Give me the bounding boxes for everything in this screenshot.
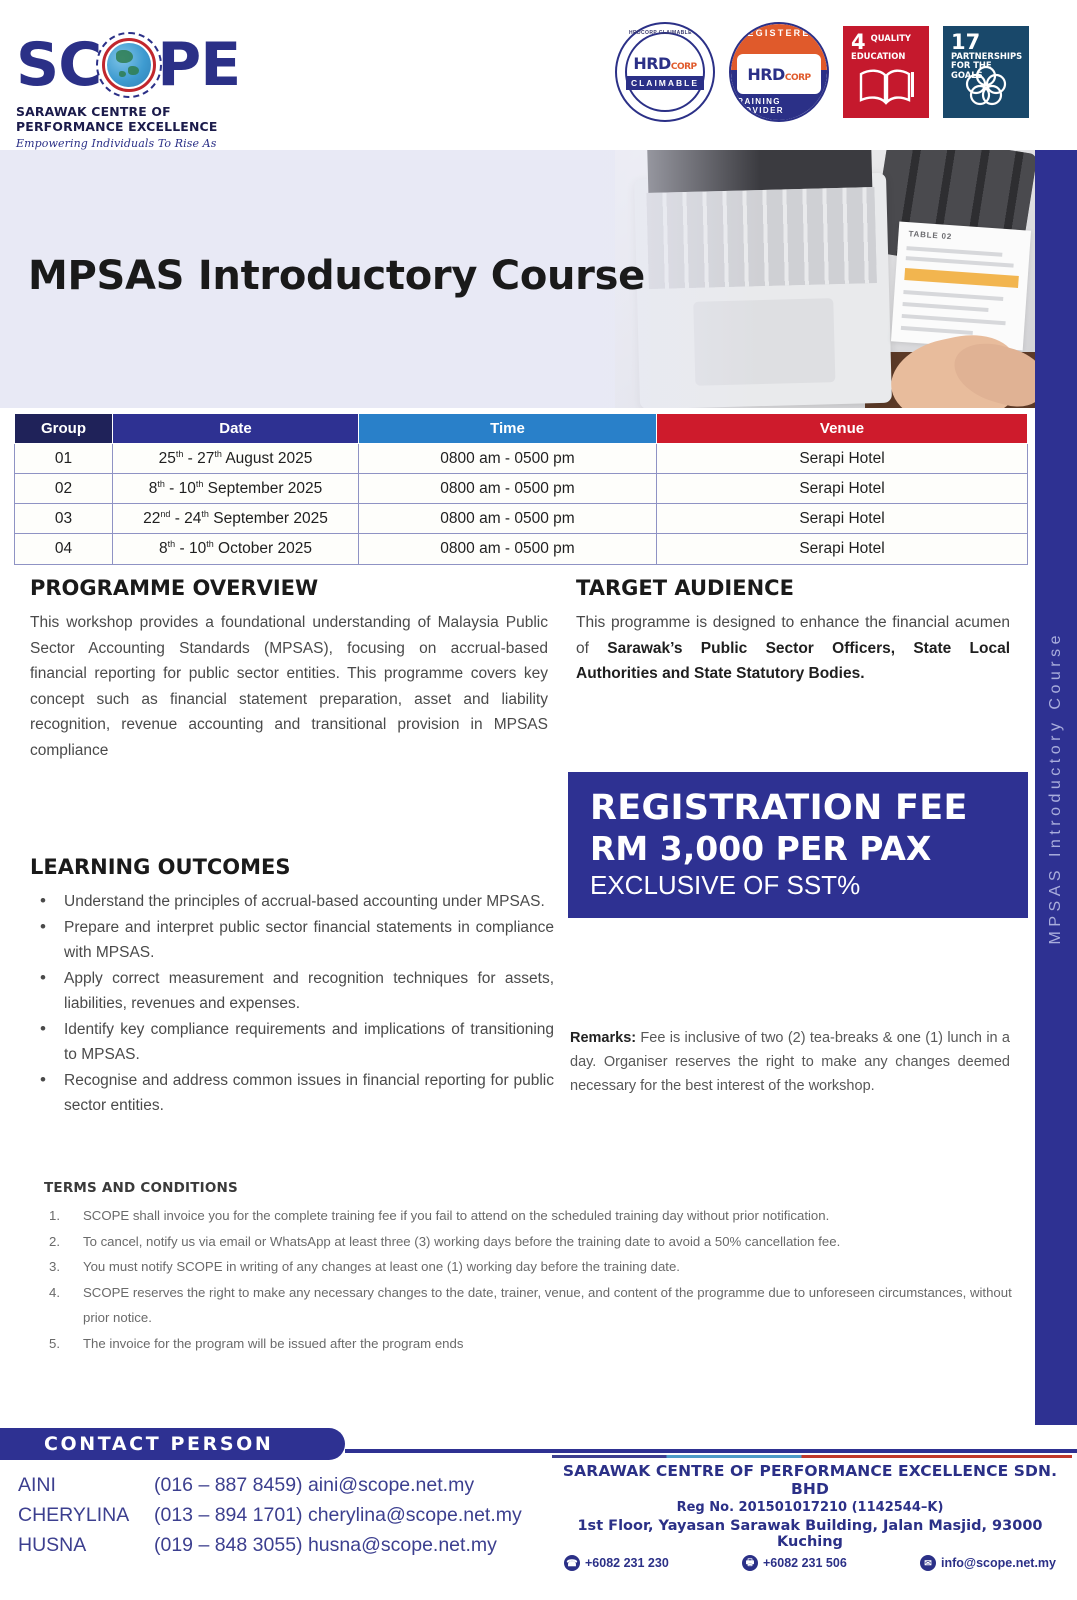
email-contact[interactable]: ✉ info@scope.net.my — [920, 1555, 1056, 1571]
registered-label: REGISTERED — [739, 28, 820, 38]
schedule-table: Group Date Time Venue 0125th - 27th Augu… — [14, 413, 1028, 565]
scope-logo: SC PE SARAWAK CENTRE OF PERFORMANCE EXCE… — [16, 30, 266, 163]
contact-name: AINI — [18, 1470, 154, 1500]
terms-and-conditions-section: TERMS AND CONDITIONS SCOPE shall invoice… — [44, 1180, 1012, 1356]
organisation-block: SARAWAK CENTRE OF PERFORMANCE EXCELLENCE… — [560, 1462, 1060, 1571]
contact-row[interactable]: CHERYLINA(013 – 894 1701) cherylina@scop… — [18, 1500, 522, 1530]
phone-icon: ☎ — [564, 1555, 580, 1571]
cell-group: 02 — [15, 474, 113, 504]
remarks-body: Fee is inclusive of two (2) tea-breaks &… — [570, 1030, 1010, 1094]
fax-number: +6082 231 506 — [763, 1556, 847, 1570]
fax-icon: 🖶 — [742, 1555, 758, 1571]
list-item: Apply correct measurement and recognitio… — [30, 966, 554, 1017]
remarks-label: Remarks: — [570, 1030, 636, 1046]
outcomes-list: Understand the principles of accrual-bas… — [30, 889, 554, 1119]
contact-detail: (013 – 894 1701) cherylina@scope.net.my — [154, 1500, 522, 1530]
audience-heading: TARGET AUDIENCE — [576, 576, 1010, 600]
remarks-block: Remarks: Fee is inclusive of two (2) tea… — [570, 1026, 1010, 1098]
contact-person-banner: CONTACT PERSON — [0, 1428, 345, 1460]
audience-body: This programme is designed to enhance th… — [576, 610, 1010, 687]
cell-group: 01 — [15, 444, 113, 474]
fax-contact[interactable]: 🖶 +6082 231 506 — [742, 1555, 847, 1571]
partnership-rings-icon — [943, 64, 1029, 111]
sdg-17-badge: 17 PARTNERSHIPSFOR THE GOALS — [943, 26, 1029, 118]
sdg-4-badge: 4 QUALITYEDUCATION — [843, 26, 929, 118]
list-item: The invoice for the program will be issu… — [44, 1331, 1012, 1357]
email-address: info@scope.net.my — [941, 1556, 1056, 1570]
overview-heading: PROGRAMME OVERVIEW — [30, 576, 548, 600]
sdg-4-number: 4 — [851, 33, 866, 52]
table-caption: TABLE 02 — [908, 229, 952, 241]
table-header-row: Group Date Time Venue — [15, 414, 1028, 444]
contact-detail: (016 – 887 8459) aini@scope.net.my — [154, 1470, 474, 1500]
cell-group: 03 — [15, 504, 113, 534]
side-rail-label: MPSAS Introductory Course — [1036, 150, 1076, 1425]
terms-heading: TERMS AND CONDITIONS — [44, 1180, 1012, 1196]
hero-banner: TABLE 02 MPSAS Introductory Course — [0, 150, 1035, 408]
target-audience-section: TARGET AUDIENCE This programme is design… — [576, 576, 1010, 687]
cell-group: 04 — [15, 534, 113, 564]
list-item: To cancel, notify us via email or WhatsA… — [44, 1229, 1012, 1255]
cell-time: 0800 am - 0500 pm — [359, 474, 657, 504]
contact-banner-rule — [345, 1449, 1077, 1453]
fee-tax-note: EXCLUSIVE OF SST% — [590, 869, 1006, 902]
hrd-wordmark: HRDCORP — [633, 54, 696, 73]
audience-body-bold: Sarawak’s Public Sector Officers, State … — [576, 640, 1010, 683]
cell-date: 8th - 10th September 2025 — [113, 474, 359, 504]
list-item: SCOPE reserves the right to make any nec… — [44, 1280, 1012, 1331]
cell-time: 0800 am - 0500 pm — [359, 444, 657, 474]
page-header: SC PE SARAWAK CENTRE OF PERFORMANCE EXCE… — [0, 0, 1077, 150]
cell-time: 0800 am - 0500 pm — [359, 504, 657, 534]
globe-icon — [102, 38, 156, 92]
sdg-17-number: 17 — [951, 33, 980, 52]
column-header-date: Date — [113, 414, 359, 444]
table-row: 0322nd - 24th September 20250800 am - 05… — [15, 504, 1028, 534]
outcomes-heading: LEARNING OUTCOMES — [30, 855, 554, 879]
logo-word-left: SC — [16, 34, 101, 96]
contact-detail: (019 – 848 3055) husna@scope.net.my — [154, 1530, 497, 1560]
badge-micro-text: HRDCORP CLAIMABLE — [629, 30, 692, 36]
column-header-group: Group — [15, 414, 113, 444]
envelope-icon: ✉ — [920, 1555, 936, 1571]
table-row: 048th - 10th October 20250800 am - 0500 … — [15, 534, 1028, 564]
certification-badges: HRDCORP CLAIMABLE HRDCORP CLAIMABLE REGI… — [615, 22, 1029, 122]
list-item: SCOPE shall invoice you for the complete… — [44, 1203, 1012, 1229]
open-book-icon — [843, 66, 929, 111]
fee-amount: RM 3,000 PER PAX — [590, 829, 1006, 869]
report-paper-image: TABLE 02 — [891, 222, 1031, 351]
cell-venue: Serapi Hotel — [657, 444, 1028, 474]
table-row: 0125th - 27th August 20250800 am - 0500 … — [15, 444, 1028, 474]
table-row: 028th - 10th September 20250800 am - 050… — [15, 474, 1028, 504]
cell-date: 8th - 10th October 2025 — [113, 534, 359, 564]
hrdcorp-claimable-badge: HRDCORP CLAIMABLE HRDCORP CLAIMABLE — [615, 22, 715, 122]
contact-list: AINI(016 – 887 8459) aini@scope.net.myCH… — [18, 1470, 522, 1560]
cell-date: 22nd - 24th September 2025 — [113, 504, 359, 534]
column-header-time: Time — [359, 414, 657, 444]
column-header-venue: Venue — [657, 414, 1028, 444]
organisation-address: 1st Floor, Yayasan Sarawak Building, Jal… — [560, 1518, 1060, 1550]
list-item: Identify key compliance requirements and… — [30, 1017, 554, 1068]
organisation-name: SARAWAK CENTRE OF PERFORMANCE EXCELLENCE… — [560, 1462, 1060, 1498]
hrd-wordmark-2: HRDCORP — [747, 65, 810, 84]
contact-person-title: CONTACT PERSON — [44, 1433, 273, 1455]
cell-venue: Serapi Hotel — [657, 504, 1028, 534]
programme-overview-section: PROGRAMME OVERVIEW This workshop provide… — [30, 576, 548, 763]
overview-body: This workshop provides a foundational un… — [30, 610, 548, 763]
contact-name: CHERYLINA — [18, 1500, 154, 1530]
contact-row[interactable]: HUSNA(019 – 848 3055) husna@scope.net.my — [18, 1530, 522, 1560]
logo-word-right: PE — [157, 34, 240, 96]
learning-outcomes-section: LEARNING OUTCOMES Understand the princip… — [30, 855, 554, 1119]
list-item: Understand the principles of accrual-bas… — [30, 889, 554, 915]
cell-venue: Serapi Hotel — [657, 474, 1028, 504]
registration-fee-box: REGISTRATION FEE RM 3,000 PER PAX EXCLUS… — [568, 772, 1028, 918]
training-provider-label: TRAINING PROVIDER — [731, 97, 827, 115]
claimable-label: CLAIMABLE — [626, 76, 704, 90]
phone-number: +6082 231 230 — [585, 1556, 669, 1570]
cell-time: 0800 am - 0500 pm — [359, 534, 657, 564]
hrdcorp-registered-badge: REGISTERED TRAINING PROVIDER HRDCORP — [729, 22, 829, 122]
terms-list: SCOPE shall invoice you for the complete… — [44, 1203, 1012, 1356]
page-title: MPSAS Introductory Course — [28, 253, 645, 299]
phone-contact[interactable]: ☎ +6082 231 230 — [564, 1555, 669, 1571]
cell-venue: Serapi Hotel — [657, 534, 1028, 564]
organisation-reg-no: Reg No. 201501017210 (1142544–K) — [560, 1500, 1060, 1515]
logo-subtitle: SARAWAK CENTRE OF PERFORMANCE EXCELLENCE — [16, 104, 266, 134]
contact-name: HUSNA — [18, 1530, 154, 1560]
list-item: You must notify SCOPE in writing of any … — [44, 1254, 1012, 1280]
footer-rule — [552, 1455, 1072, 1458]
list-item: Recognise and address common issues in f… — [30, 1068, 554, 1119]
fee-title: REGISTRATION FEE — [590, 787, 1006, 829]
list-item: Prepare and interpret public sector fina… — [30, 915, 554, 966]
contact-row[interactable]: AINI(016 – 887 8459) aini@scope.net.my — [18, 1470, 522, 1500]
cell-date: 25th - 27th August 2025 — [113, 444, 359, 474]
